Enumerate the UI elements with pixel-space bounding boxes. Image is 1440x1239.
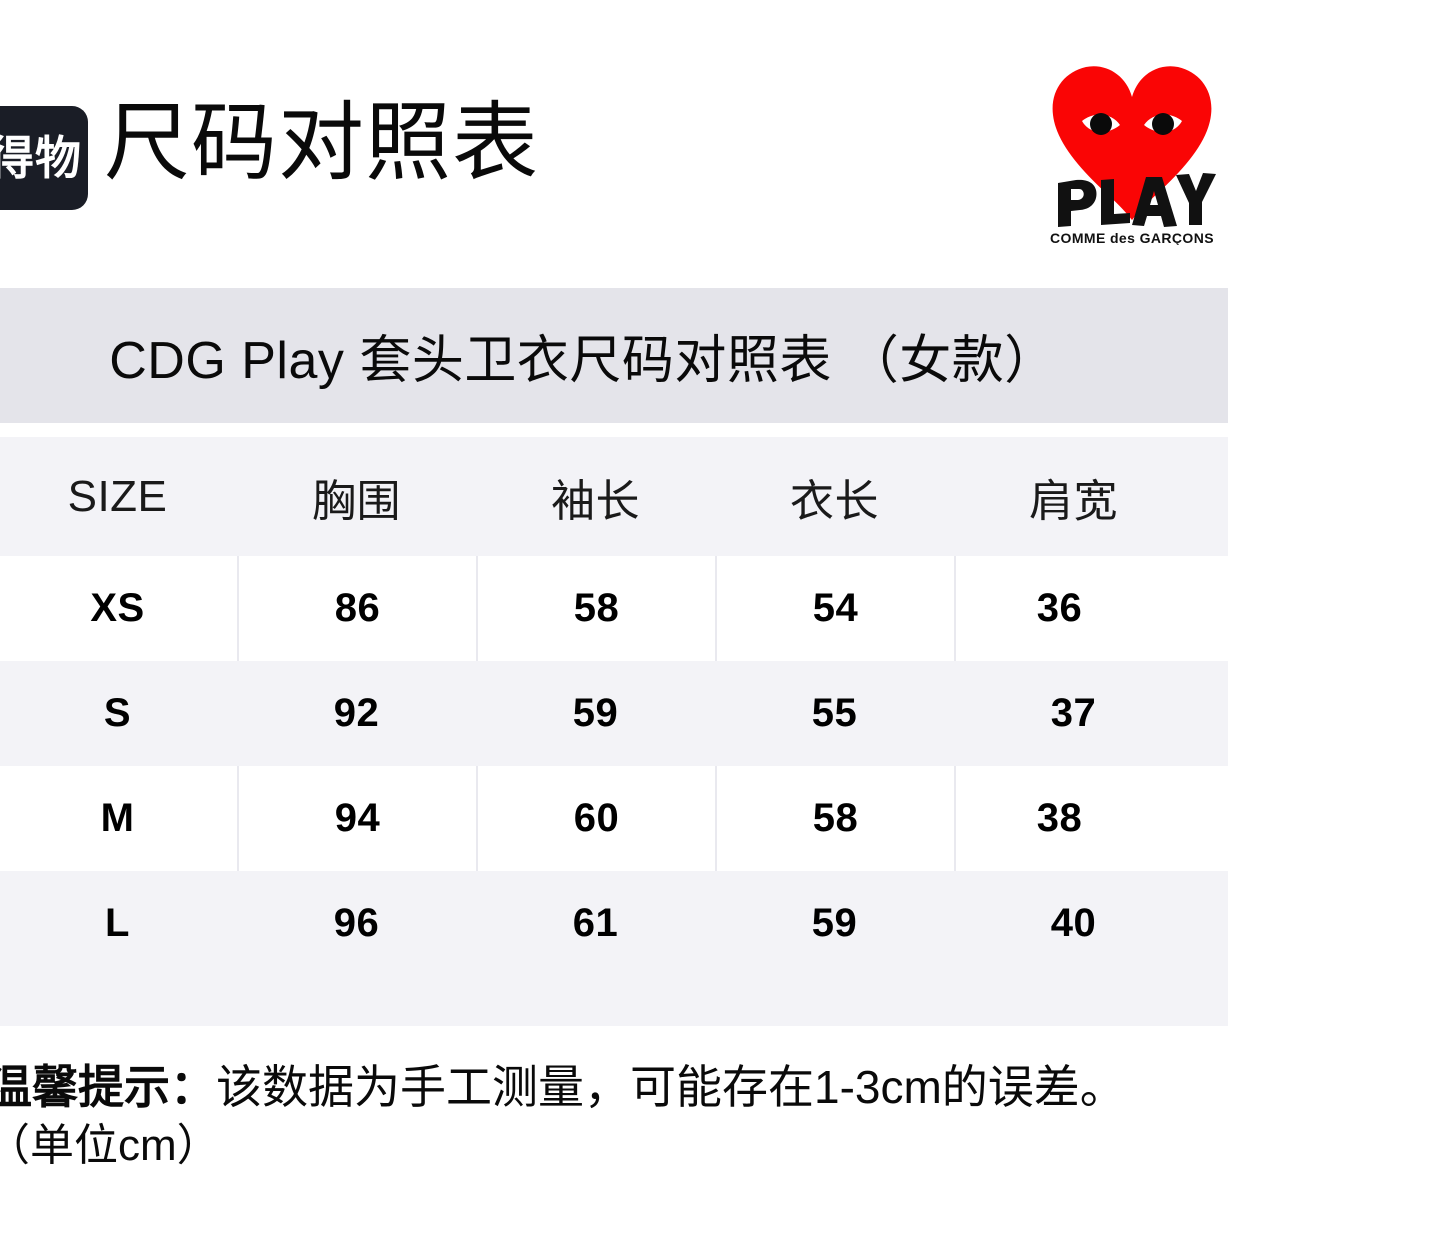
table-spacer bbox=[0, 423, 1228, 437]
cell-size: S bbox=[0, 661, 237, 766]
cell-length: 55 bbox=[715, 661, 954, 766]
column-header-label: SIZE bbox=[68, 472, 168, 522]
cell-value: 60 bbox=[574, 796, 620, 841]
cell-size: XS bbox=[0, 556, 237, 661]
cell-length: 59 bbox=[715, 871, 954, 976]
table-header-row: SIZE 胸围 袖长 衣长 肩宽 bbox=[0, 437, 1228, 556]
table-title-band: CDG Play 套头卫衣尺码对照表 （女款） bbox=[0, 288, 1228, 423]
cell-size: L bbox=[0, 871, 237, 976]
column-header-label: 胸围 bbox=[312, 465, 401, 529]
cell-value: M bbox=[101, 796, 135, 841]
table-body: SIZE 胸围 袖长 衣长 肩宽 XS 86 58 bbox=[0, 437, 1228, 1026]
cell-value: 94 bbox=[335, 796, 381, 841]
cell-size: M bbox=[0, 766, 237, 871]
brand-badge-label: 得物 bbox=[0, 135, 82, 181]
cell-value: 96 bbox=[334, 901, 380, 946]
column-header-label: 肩宽 bbox=[1029, 465, 1118, 529]
disclaimer-label: 温馨提示： bbox=[0, 1061, 216, 1113]
cell-value: 58 bbox=[813, 796, 859, 841]
cell-bust: 96 bbox=[237, 871, 476, 976]
footer-note: 温馨提示：该数据为手工测量，可能存在1-3cm的误差。 （单位cm） bbox=[0, 1058, 1406, 1174]
table-title: CDG Play 套头卫衣尺码对照表 （女款） bbox=[109, 318, 1057, 393]
page-title: 尺码对照表 bbox=[104, 96, 539, 191]
disclaimer-body: 该数据为手工测量，可能存在1-3cm的误差。 bbox=[216, 1061, 1126, 1113]
table-row: L 96 61 59 40 bbox=[0, 871, 1228, 976]
cell-length: 58 bbox=[715, 766, 954, 871]
cell-bust: 86 bbox=[237, 556, 476, 661]
column-header-label: 衣长 bbox=[790, 465, 879, 529]
cell-value: XS bbox=[90, 586, 144, 631]
unit-note: （单位cm） bbox=[0, 1117, 1406, 1174]
cell-value: 86 bbox=[335, 586, 381, 631]
cell-sleeve: 61 bbox=[476, 871, 715, 976]
cell-value: 61 bbox=[573, 901, 619, 946]
size-chart-table: CDG Play 套头卫衣尺码对照表 （女款） SIZE 胸围 袖长 衣长 肩宽… bbox=[0, 288, 1228, 1026]
cell-value: 40 bbox=[1051, 901, 1097, 946]
cell-shoulder: 37 bbox=[954, 661, 1193, 766]
cell-length: 54 bbox=[715, 556, 954, 661]
svg-text:COMME des GARÇONS: COMME des GARÇONS bbox=[1050, 230, 1214, 245]
column-header-bust: 胸围 bbox=[237, 437, 476, 556]
cell-value: 58 bbox=[574, 586, 620, 631]
page-header: 得物 尺码对照表 COMME d bbox=[0, 0, 1440, 276]
cell-value: 54 bbox=[813, 586, 859, 631]
cell-bust: 94 bbox=[237, 766, 476, 871]
cell-shoulder: 36 bbox=[954, 556, 1163, 661]
cell-value: 37 bbox=[1051, 691, 1097, 736]
column-header-size: SIZE bbox=[0, 437, 237, 556]
cell-sleeve: 59 bbox=[476, 661, 715, 766]
cell-value: L bbox=[105, 901, 130, 946]
cell-bust: 92 bbox=[237, 661, 476, 766]
cdg-play-heart-icon: COMME des GARÇONS bbox=[1046, 55, 1218, 245]
column-header-shoulder: 肩宽 bbox=[954, 437, 1193, 556]
column-header-label: 袖长 bbox=[551, 465, 640, 529]
cell-value: 55 bbox=[812, 691, 858, 736]
cell-value: 36 bbox=[1037, 586, 1083, 631]
cell-value: 59 bbox=[812, 901, 858, 946]
cell-value: 92 bbox=[334, 691, 380, 736]
cell-value: S bbox=[104, 691, 131, 736]
column-header-length: 衣长 bbox=[715, 437, 954, 556]
cell-sleeve: 58 bbox=[476, 556, 715, 661]
table-row: S 92 59 55 37 bbox=[0, 661, 1228, 766]
column-header-sleeve: 袖长 bbox=[476, 437, 715, 556]
table-row: M 94 60 58 38 bbox=[0, 766, 1228, 871]
cell-value: 59 bbox=[573, 691, 619, 736]
cell-shoulder: 40 bbox=[954, 871, 1193, 976]
cell-shoulder: 38 bbox=[954, 766, 1163, 871]
cell-value: 38 bbox=[1037, 796, 1083, 841]
table-row: XS 86 58 54 36 bbox=[0, 556, 1228, 661]
measurement-disclaimer: 温馨提示：该数据为手工测量，可能存在1-3cm的误差。 bbox=[0, 1058, 1406, 1117]
cell-sleeve: 60 bbox=[476, 766, 715, 871]
brand-badge: 得物 bbox=[0, 106, 88, 210]
